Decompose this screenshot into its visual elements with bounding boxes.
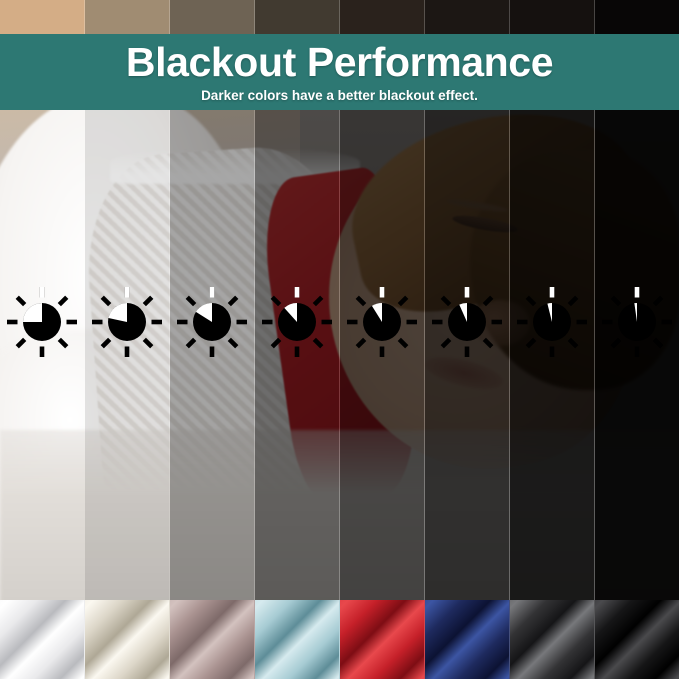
fabric-swatch-taupe[interactable] [170, 600, 255, 679]
page-subtitle: Darker colors have a better blackout eff… [201, 89, 478, 103]
top-strip-swatch-tan [0, 0, 85, 34]
title-banner: Blackout Performance Darker colors have … [0, 34, 679, 110]
top-strip-swatch-dark-brown [255, 0, 340, 34]
fabric-swatch-white[interactable] [0, 600, 85, 679]
top-strip-swatch-deep-brown [340, 0, 425, 34]
fabric-sheen [170, 600, 255, 679]
top-strip-swatch-charcoal-black [510, 0, 595, 34]
top-color-strip [0, 0, 679, 34]
top-strip-swatch-near-black-brown [425, 0, 510, 34]
fabric-swatch-navy[interactable] [425, 600, 510, 679]
fabric-sheen [255, 600, 340, 679]
fabric-sheen [85, 600, 170, 679]
top-strip-swatch-black [595, 0, 679, 34]
fabric-swatch-charcoal[interactable] [510, 600, 595, 679]
fabric-sheen [425, 600, 510, 679]
fabric-sheen [0, 600, 85, 679]
fabric-swatch-cream[interactable] [85, 600, 170, 679]
fabric-sheen [595, 600, 679, 679]
fabric-swatch-light-blue[interactable] [255, 600, 340, 679]
top-strip-swatch-warm-taupe [85, 0, 170, 34]
fabric-swatch-black[interactable] [595, 600, 679, 679]
fabric-swatch-red[interactable] [340, 600, 425, 679]
fabric-swatch-row [0, 600, 679, 679]
page-title: Blackout Performance [126, 42, 553, 83]
fabric-sheen [340, 600, 425, 679]
fabric-sheen [510, 600, 595, 679]
blackout-performance-infographic: Blackout Performance Darker colors have … [0, 0, 679, 679]
top-strip-swatch-gray-brown [170, 0, 255, 34]
